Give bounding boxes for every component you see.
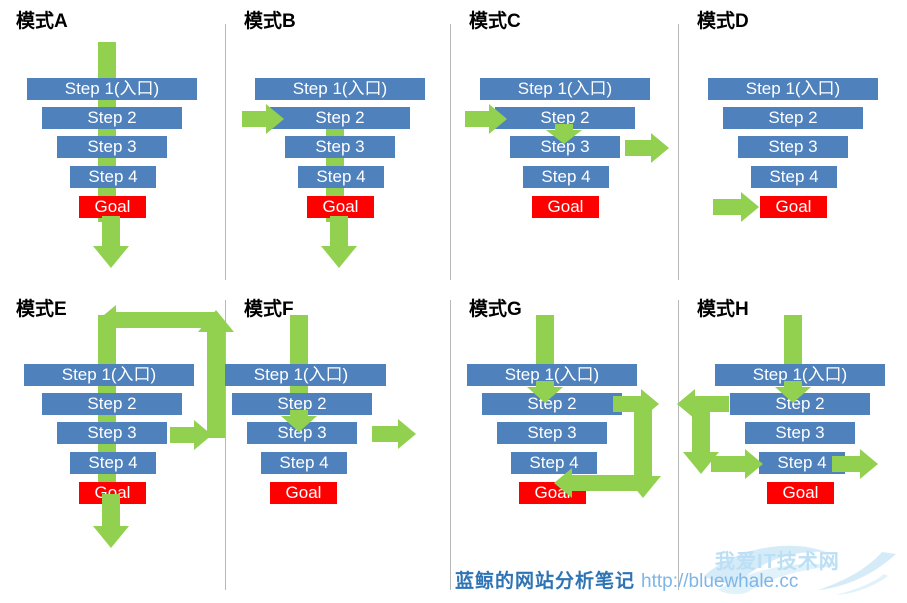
flow-arrow-exit-step-3 xyxy=(625,133,669,163)
funnel-bar-goal: Goal xyxy=(767,482,834,504)
funnel-bar-goal: Goal xyxy=(760,196,827,218)
funnel-bar-step-1: Step 1(入口) xyxy=(255,78,425,100)
flow-trunk-vertical xyxy=(98,42,116,222)
funnel-bar-step-1: Step 1(入口) xyxy=(27,78,197,100)
flow-arrow-to-step-3 xyxy=(281,410,317,432)
panel-d: 模式D Step 1(入口) Step 2 Step 3 Step 4 Goal xyxy=(681,0,906,280)
flow-arrow-enter-step-2 xyxy=(465,104,507,134)
funnel-bar-step-1: Step 1(入口) xyxy=(24,364,194,386)
flow-arrow-exit-step-3 xyxy=(372,419,416,449)
funnel-bar-step-1: Step 1(入口) xyxy=(708,78,878,100)
funnel-bar-goal: Goal xyxy=(532,196,599,218)
flow-arrow-down-exit xyxy=(321,216,357,268)
funnel-bar-step-2: Step 2 xyxy=(42,107,182,129)
funnel-bar-goal: Goal xyxy=(270,482,337,504)
watermark-logo-text: 我爱IT技术网 xyxy=(715,545,840,574)
panel-f: 模式F Step 1(入口) Step 2 Step 3 Step 4 Goal xyxy=(228,288,453,588)
panel-a: 模式A Step 1(入口) Step 2 Step 3 Step 4 Goal xyxy=(0,0,225,280)
funnel-bar-step-4: Step 4 xyxy=(523,166,609,188)
panel-title-c: 模式C xyxy=(469,6,521,33)
funnel-bar-step-3: Step 3 xyxy=(57,422,167,444)
panel-title-a: 模式A xyxy=(16,6,68,33)
flow-arrow-enter-goal xyxy=(713,193,759,221)
flow-arrow-down-exit xyxy=(93,494,129,548)
panel-title-g: 模式G xyxy=(469,294,522,321)
panel-title-b: 模式B xyxy=(244,6,296,33)
panel-divider-1 xyxy=(225,24,226,280)
panel-c: 模式C Step 1(入口) Step 2 Step 3 Step 4 Goal xyxy=(453,0,678,280)
funnel-bar-step-4: Step 4 xyxy=(70,452,156,474)
panel-title-f: 模式F xyxy=(244,294,294,321)
funnel-bar-step-3: Step 3 xyxy=(285,136,395,158)
watermark-url: http://bluewhale.cc xyxy=(641,571,798,592)
panel-title-e: 模式E xyxy=(16,294,67,321)
funnel-bar-step-1: Step 1(入口) xyxy=(216,364,386,386)
panel-e: 模式E Step 1(入口) Step 2 Step 3 Step 4 Goal xyxy=(0,288,225,588)
funnel-bar-step-3: Step 3 xyxy=(497,422,607,444)
flow-arrow-to-step-2 xyxy=(527,381,563,403)
funnel-bar-goal: Goal xyxy=(79,196,146,218)
flow-arrow-enter-step-2 xyxy=(242,104,284,134)
funnel-bar-step-4: Step 4 xyxy=(70,166,156,188)
panel-divider-3 xyxy=(678,24,679,280)
panel-divider-6 xyxy=(678,300,679,590)
panel-b: 模式B Step 1(入口) Step 2 Step 3 Step 4 Goal xyxy=(228,0,453,280)
funnel-bar-step-3: Step 3 xyxy=(57,136,167,158)
funnel-bar-step-4: Step 4 xyxy=(751,166,837,188)
funnel-bar-step-3: Step 3 xyxy=(738,136,848,158)
funnel-bar-step-4: Step 4 xyxy=(261,452,347,474)
flow-arrow-exit-step-4 xyxy=(832,449,878,479)
funnel-bar-step-2: Step 2 xyxy=(723,107,863,129)
funnel-bar-goal: Goal xyxy=(307,196,374,218)
flow-arrow-loop-left xyxy=(98,305,218,335)
flow-arrow-to-step-2 xyxy=(775,381,811,403)
funnel-bar-step-3: Step 3 xyxy=(745,422,855,444)
flow-arrow-enter-goal xyxy=(554,468,638,498)
panel-g: 模式G Step 1(入口) Step 2 Step 3 Step 4 Goal xyxy=(453,288,678,588)
funnel-bar-step-1: Step 1(入口) xyxy=(480,78,650,100)
flow-arrow-step-2-to-3 xyxy=(546,124,582,144)
diagram-canvas: 模式A Step 1(入口) Step 2 Step 3 Step 4 Goal… xyxy=(0,0,907,603)
panel-title-h: 模式H xyxy=(697,294,749,321)
funnel-bar-step-2: Step 2 xyxy=(270,107,410,129)
flow-arrow-enter-step-4 xyxy=(711,449,763,479)
funnel-bar-step-2: Step 2 xyxy=(42,393,182,415)
flow-arrow-down-exit xyxy=(93,216,129,268)
panel-title-d: 模式D xyxy=(697,6,749,33)
funnel-bar-step-4: Step 4 xyxy=(298,166,384,188)
watermark-site-name: 蓝鲸的网站分析笔记 xyxy=(455,571,635,592)
